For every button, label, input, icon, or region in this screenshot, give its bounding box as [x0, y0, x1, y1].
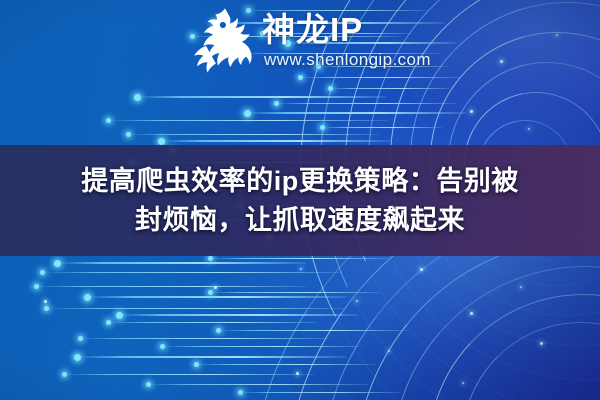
page-title-line-1: 提高爬虫效率的ip更换策略：告别被	[81, 162, 519, 200]
page-title-line-2: 封烦恼，让抓取速度飙起来	[135, 201, 465, 239]
promo-banner: 神龙IP www.shenlongip.com 提高爬虫效率的ip更换策略：告别…	[0, 0, 600, 400]
page-title: 提高爬虫效率的ip更换策略：告别被 封烦恼，让抓取速度飙起来	[0, 145, 600, 256]
brand-logo: 神龙IP www.shenlongip.com	[182, 4, 431, 74]
brand-name-cn: 神龙IP	[262, 13, 431, 46]
dragon-head-logo-icon	[182, 4, 254, 74]
brand-url: www.shenlongip.com	[264, 51, 431, 68]
